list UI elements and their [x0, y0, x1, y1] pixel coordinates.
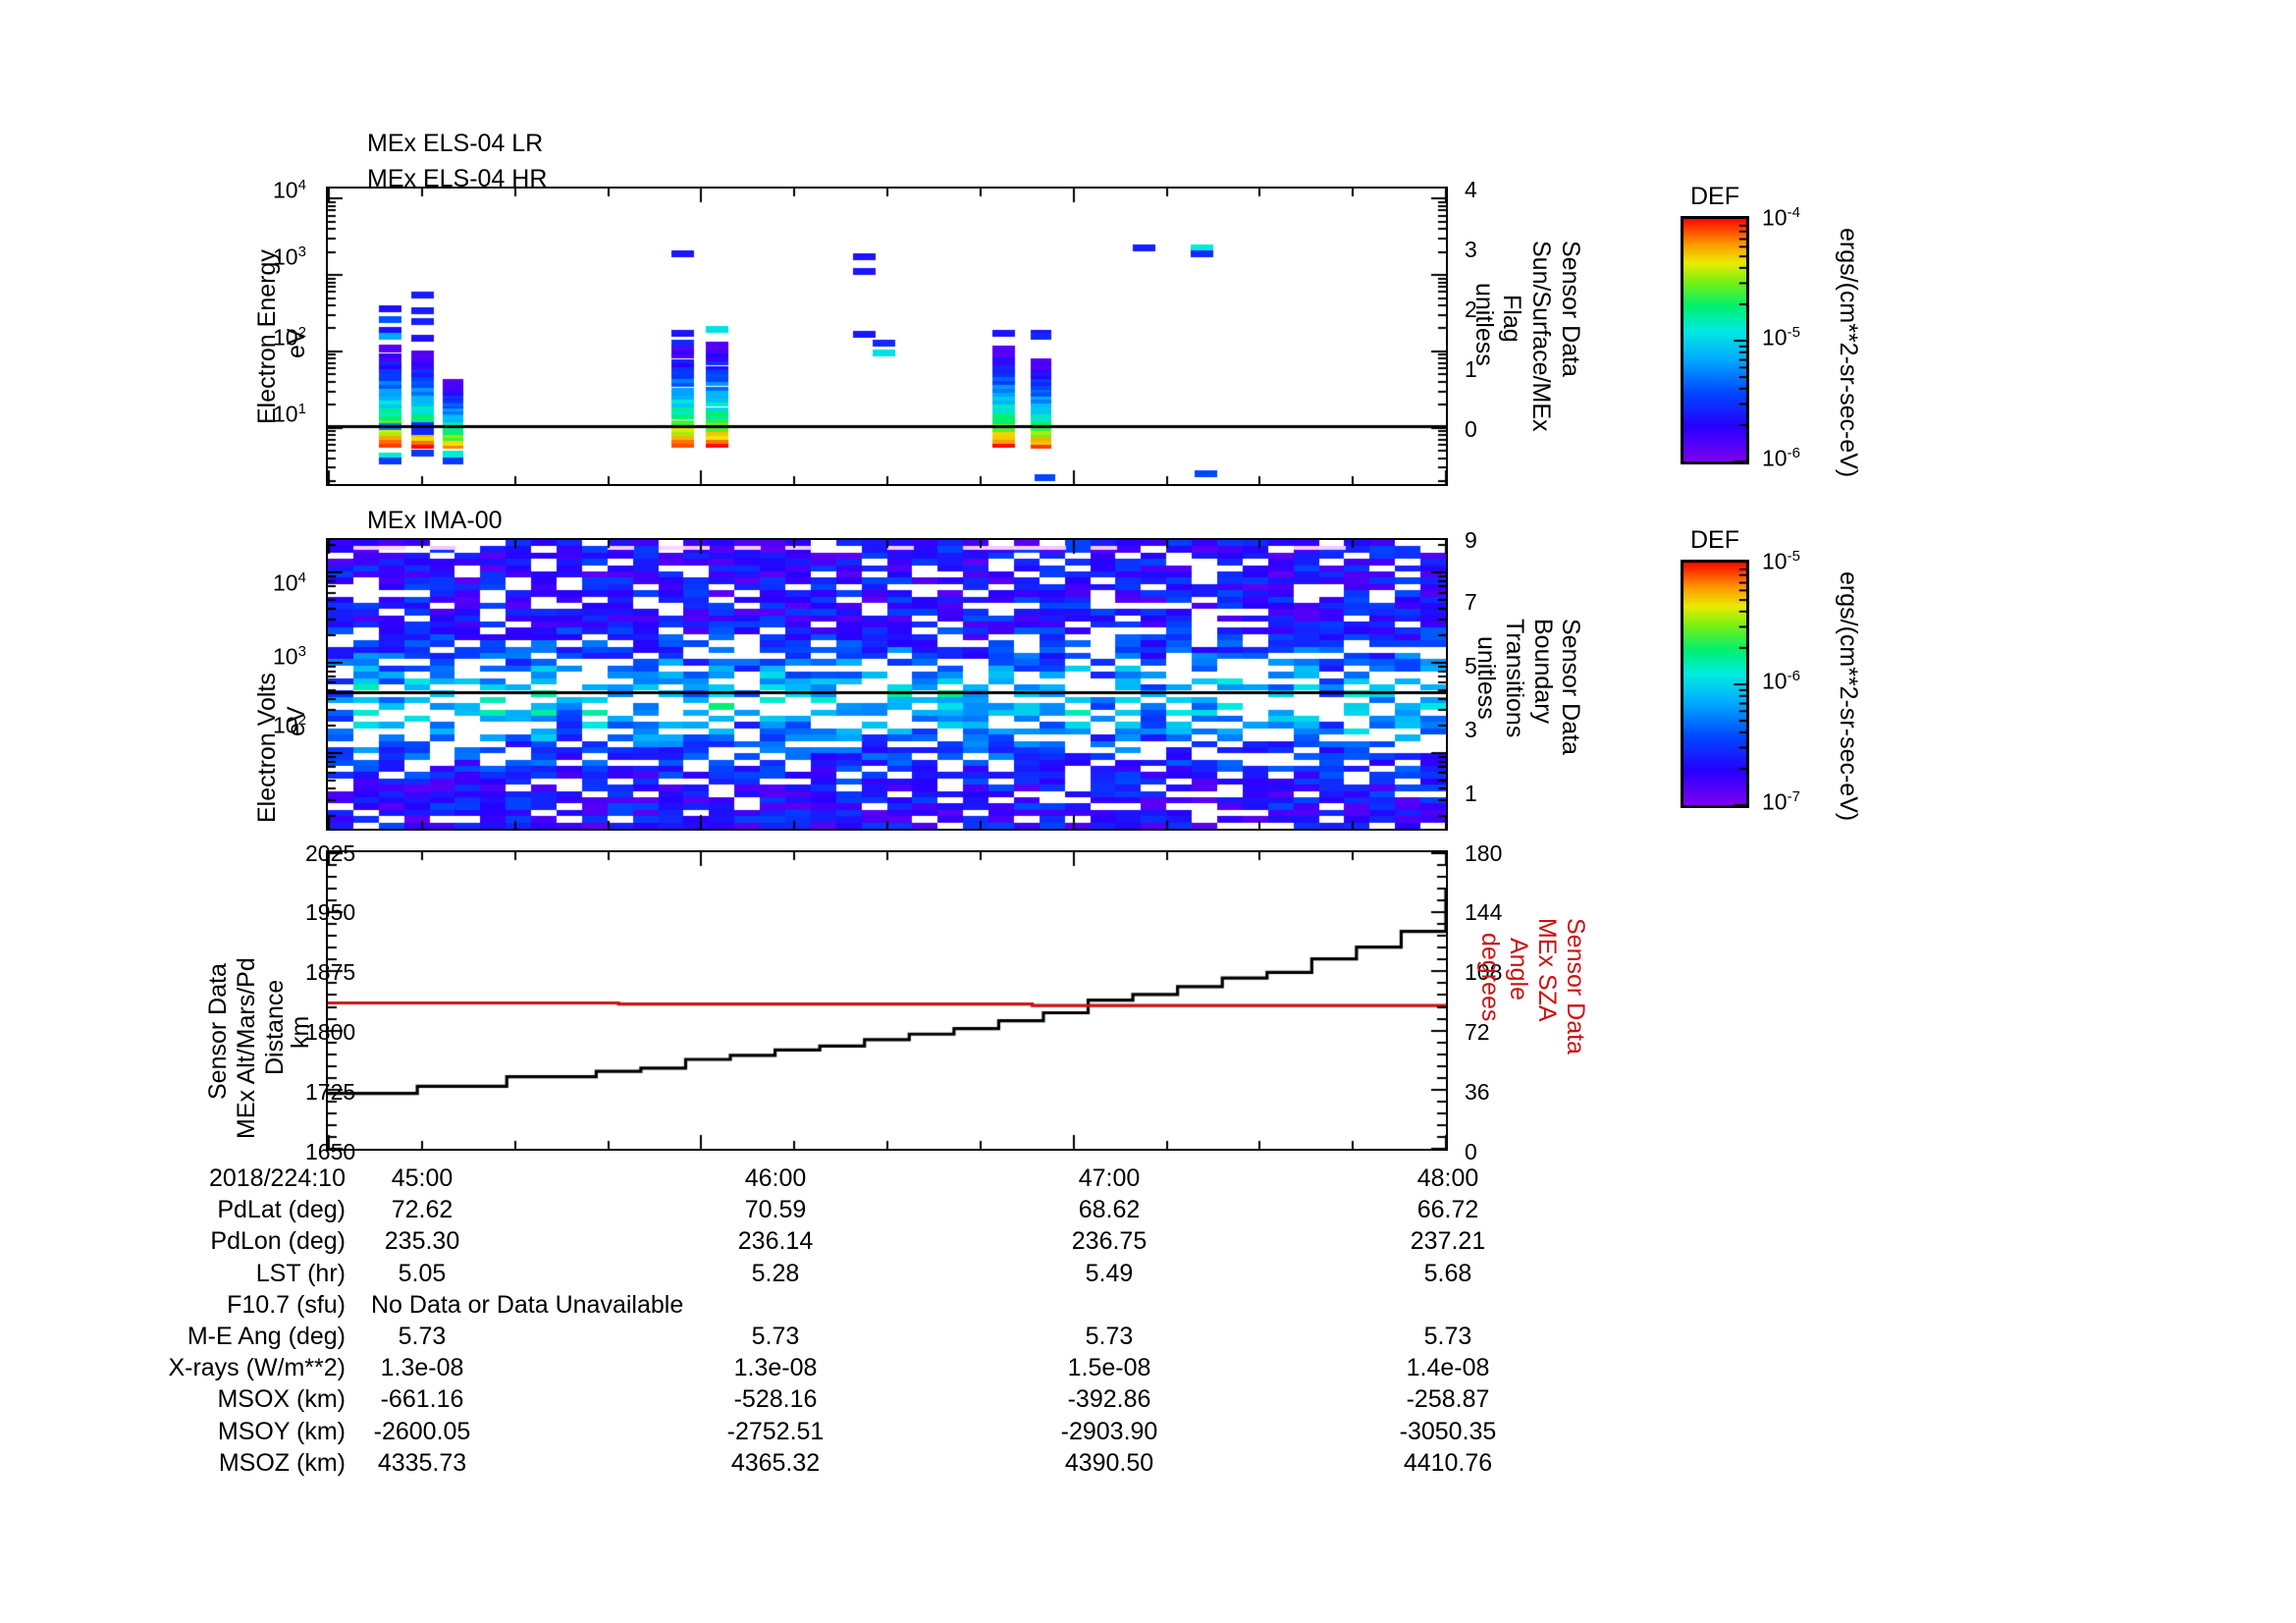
- table-cell: 1.5e-08: [1021, 1354, 1198, 1382]
- colorbar2-bot-label: 10-7: [1762, 788, 1800, 816]
- altitude-sza-canvas: [328, 852, 1446, 1149]
- p3-rtick-144: 144: [1465, 899, 1502, 926]
- p1-right-axis-label4: unitless: [1469, 283, 1498, 401]
- colorbar2-units: ergs/(cm**2-sr-sec-eV): [1834, 571, 1862, 827]
- p3-left-axis-label4: km: [287, 990, 315, 1049]
- p3-ytick-1650: 1650: [305, 1139, 355, 1165]
- table-cell: -661.16: [334, 1385, 510, 1414]
- table-cell: 4410.76: [1360, 1449, 1536, 1478]
- table-cell: 66.72: [1360, 1196, 1536, 1224]
- ima-spectrogram-canvas: [328, 540, 1446, 829]
- colorbar1-bot-label: 10-6: [1762, 445, 1800, 472]
- colorbar1-units: ergs/(cm**2-sr-sec-eV): [1834, 228, 1862, 483]
- p2-rtick-9: 9: [1465, 527, 1477, 554]
- table-row-label: M-E Ang (deg): [0, 1323, 346, 1351]
- table-cell: 68.62: [1021, 1196, 1198, 1224]
- p2-right-axis-label2: Boundary: [1528, 619, 1557, 776]
- p2-left-axis-units: eV: [283, 677, 311, 736]
- colorbar1-top-label: 10-4: [1762, 204, 1800, 232]
- p2-right-axis-label3: Transitions: [1500, 619, 1528, 795]
- p1-ytick-1e4: 104: [273, 177, 306, 204]
- table-cell: 1.3e-08: [334, 1354, 510, 1382]
- p3-left-axis-label2: MEx Alt/Mars/Pd: [233, 913, 261, 1139]
- colorbar1: [1681, 216, 1749, 464]
- p2-rtick-1: 1: [1465, 781, 1477, 807]
- table-cell: 4335.73: [334, 1449, 510, 1478]
- table-cell: No Data or Data Unavailable: [371, 1291, 683, 1320]
- table-cell: 5.68: [1360, 1260, 1536, 1288]
- p3-left-axis-label1: Sensor Data: [204, 913, 233, 1100]
- table-cell: 5.73: [334, 1323, 510, 1351]
- table-cell: -258.87: [1360, 1385, 1536, 1414]
- p2-right-axis-label1: Sensor Data: [1556, 619, 1584, 805]
- p2-left-axis-label: Electron Volts: [253, 597, 282, 823]
- table-cell: 5.73: [687, 1323, 864, 1351]
- colorbar2-top-label: 10-5: [1762, 548, 1800, 575]
- table-cell: 237.21: [1360, 1227, 1536, 1256]
- table-cell: 1.4e-08: [1360, 1354, 1536, 1382]
- table-cell: 4390.50: [1021, 1449, 1198, 1478]
- table-cell: 5.28: [687, 1260, 864, 1288]
- p3-ytick-1875: 1875: [305, 959, 355, 986]
- colorbar2: [1681, 560, 1749, 808]
- table-cell: -2903.90: [1021, 1418, 1198, 1446]
- p1-right-axis-label3: Flag: [1497, 295, 1525, 373]
- table-row-label: MSOY (km): [0, 1418, 346, 1446]
- colorbar1-mid-label: 10-5: [1762, 324, 1800, 352]
- table-cell: -3050.35: [1360, 1418, 1536, 1446]
- table-cell: 70.59: [687, 1196, 864, 1224]
- p3-right-axis-label3: Angle: [1504, 938, 1532, 1055]
- table-row-label: LST (hr): [0, 1260, 346, 1288]
- ima-title: MEx IMA-00: [367, 507, 503, 535]
- table-row-label: MSOZ (km): [0, 1449, 346, 1478]
- p2-rtick-7: 7: [1465, 589, 1477, 616]
- p1-right-axis-label2: Sun/Surface/MEx: [1526, 241, 1555, 466]
- table-row-label: MSOX (km): [0, 1385, 346, 1414]
- table-cell: 45:00: [334, 1164, 510, 1193]
- table-cell: -2752.51: [687, 1418, 864, 1446]
- p3-rtick-36: 36: [1465, 1079, 1490, 1106]
- p3-ytick-1725: 1725: [305, 1079, 355, 1106]
- table-cell: 5.05: [334, 1260, 510, 1288]
- table-cell: 5.73: [1360, 1323, 1536, 1351]
- table-cell: 5.73: [1021, 1323, 1198, 1351]
- table-cell: 235.30: [334, 1227, 510, 1256]
- table-row-label: F10.7 (sfu): [0, 1291, 346, 1320]
- table-cell: 236.75: [1021, 1227, 1198, 1256]
- p1-rtick-4: 4: [1465, 177, 1477, 203]
- table-row-label: 2018/224:10: [0, 1164, 346, 1193]
- table-cell: 1.3e-08: [687, 1354, 864, 1382]
- p3-ytick-1950: 1950: [305, 899, 355, 926]
- colorbar2-mid-label: 10-6: [1762, 668, 1800, 695]
- p2-right-axis-label4: unitless: [1471, 636, 1500, 774]
- table-row-label: PdLon (deg): [0, 1227, 346, 1256]
- table-cell: 48:00: [1360, 1164, 1536, 1193]
- els-lr-title: MEx ELS-04 LR: [367, 130, 543, 158]
- colorbar2-title: DEF: [1690, 526, 1739, 555]
- p1-right-axis-label1: Sensor Data: [1556, 241, 1584, 437]
- p1-rtick-3: 3: [1465, 237, 1477, 263]
- p1-left-axis-units: eV: [283, 314, 311, 373]
- p3-right-axis-label1: Sensor Data: [1561, 918, 1589, 1105]
- table-cell: -2600.05: [334, 1418, 510, 1446]
- p2-ytick-1e4: 104: [273, 569, 306, 597]
- table-cell: 46:00: [687, 1164, 864, 1193]
- p3-rtick-180: 180: [1465, 840, 1502, 867]
- table-cell: -528.16: [687, 1385, 864, 1414]
- p1-left-axis-label: Electron Energy: [253, 214, 282, 460]
- table-cell: -392.86: [1021, 1385, 1198, 1414]
- table-cell: 236.14: [687, 1227, 864, 1256]
- table-cell: 5.49: [1021, 1260, 1198, 1288]
- colorbar1-title: DEF: [1690, 183, 1739, 211]
- table-row-label: X-rays (W/m**2): [0, 1354, 346, 1382]
- p1-rtick-0: 0: [1465, 416, 1477, 443]
- p3-ytick-2025: 2025: [305, 840, 355, 867]
- p3-right-axis-label4: degrees: [1475, 933, 1504, 1070]
- table-cell: 72.62: [334, 1196, 510, 1224]
- table-cell: 4365.32: [687, 1449, 864, 1478]
- els-spectrogram-canvas: [328, 189, 1446, 484]
- p3-right-axis-label2: MEx SZA: [1532, 918, 1561, 1075]
- p3-left-axis-label3: Distance: [261, 957, 290, 1075]
- p3-rtick-0: 0: [1465, 1139, 1477, 1165]
- table-row-label: PdLat (deg): [0, 1196, 346, 1224]
- table-cell: 47:00: [1021, 1164, 1198, 1193]
